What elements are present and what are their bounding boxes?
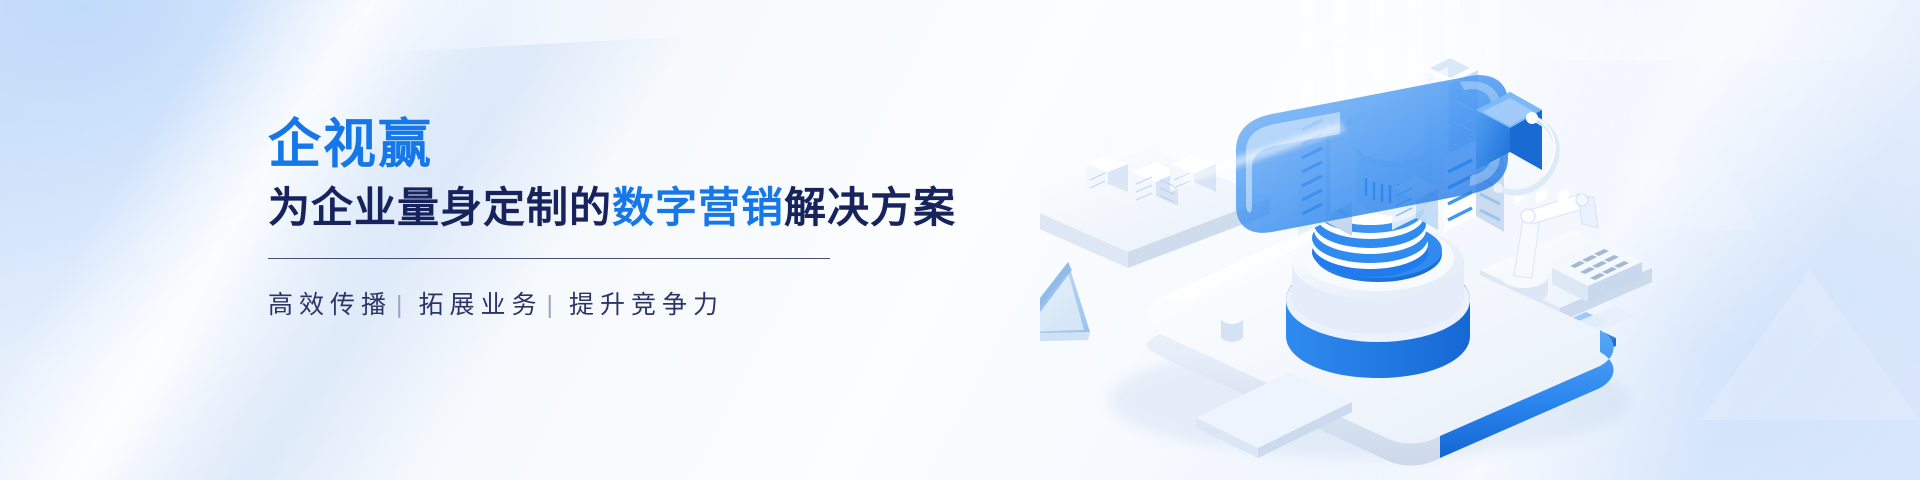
- tagline-separator-1: |: [396, 291, 409, 319]
- hero-copy: 企视赢 为企业量身定制的数字营销解决方案 高效传播|拓展业务|提升竞争力: [268, 118, 908, 321]
- glass-triangle-prism: [1040, 262, 1090, 342]
- tagline-item-1: 高效传播: [268, 291, 392, 319]
- headline-prefix: 为企业量身定制的: [268, 184, 612, 231]
- tagline-item-3: 提升竞争力: [569, 291, 724, 319]
- divider-rule: [268, 258, 830, 259]
- hero-banner: 企视赢 为企业量身定制的数字营销解决方案 高效传播|拓展业务|提升竞争力: [0, 0, 1920, 480]
- tagline-separator-2: |: [547, 291, 560, 319]
- cylinder-knob: [1221, 312, 1243, 342]
- tagline-item-2: 拓展业务: [419, 291, 543, 319]
- brand-title: 企视赢: [268, 118, 908, 171]
- headline: 为企业量身定制的数字营销解决方案: [268, 185, 908, 230]
- tagline: 高效传播|拓展业务|提升竞争力: [268, 285, 908, 321]
- headline-suffix: 解决方案: [784, 184, 956, 231]
- illustration-isometric-smart-city: [1040, 0, 1800, 480]
- headline-accent: 数字营销: [612, 184, 784, 231]
